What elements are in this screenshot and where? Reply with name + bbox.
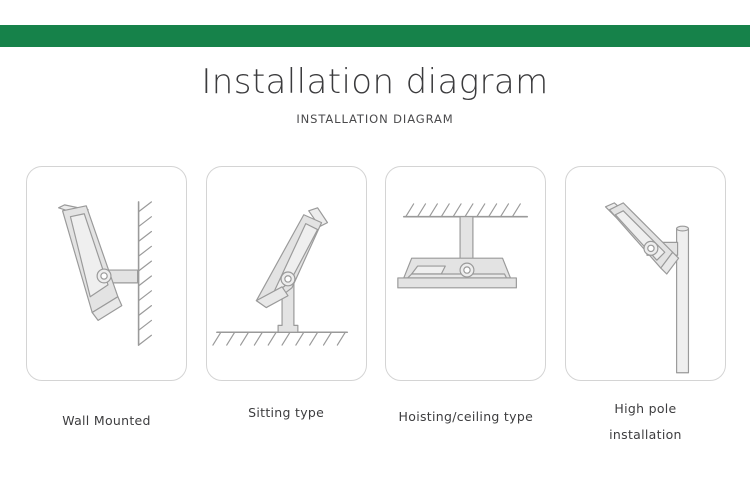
caption-sitting-type: Sitting type [206, 396, 367, 466]
sitting-type-floodlight-diagram [207, 167, 366, 380]
caption-wall-mounted: Wall Mounted [26, 396, 187, 466]
wall-mounted-floodlight-diagram [27, 167, 186, 380]
high-pole-floodlight-diagram [566, 167, 725, 380]
page-title: Installation diagram [0, 62, 750, 102]
caption-high-pole-installation: High pole installation [565, 396, 726, 466]
caption-hoisting-ceiling-type: Hoisting/ceiling type [385, 396, 546, 466]
installation-diagram-page: Installation diagram INSTALLATION DIAGRA… [0, 0, 750, 481]
diagram-card-hoisting-ceiling-type[interactable] [385, 166, 546, 381]
diagram-caption-row: Wall Mounted Sitting type Hoisting/ceili… [26, 396, 726, 466]
diagram-card-high-pole-installation[interactable] [565, 166, 726, 381]
diagram-card-row [26, 166, 726, 381]
diagram-card-wall-mounted[interactable] [26, 166, 187, 381]
caption-high-pole-line2: installation [565, 422, 726, 448]
diagram-card-sitting-type[interactable] [206, 166, 367, 381]
page-subtitle: INSTALLATION DIAGRAM [0, 112, 750, 126]
ceiling-mounted-floodlight-diagram [386, 167, 545, 380]
caption-high-pole-line1: High pole [565, 396, 726, 422]
top-accent-bar [0, 25, 750, 47]
